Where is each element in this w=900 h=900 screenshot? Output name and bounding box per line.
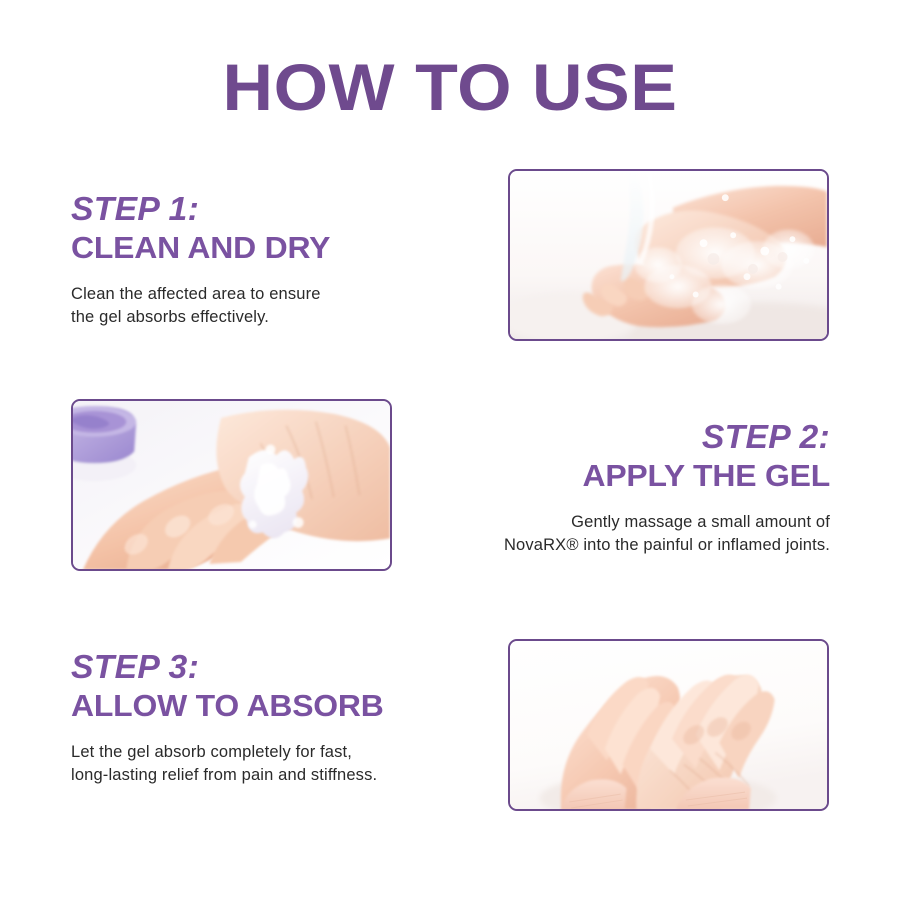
washing-hands-photo [508, 169, 829, 341]
applying-gel-illustration [73, 401, 390, 569]
applying-gel-photo-inner [73, 401, 390, 569]
step-2-heading: APPLY THE GEL [356, 457, 830, 495]
step-1-heading: CLEAN AND DRY [71, 229, 504, 267]
step-1-text-block: STEP 1: CLEAN AND DRY Clean the affected… [71, 190, 491, 329]
resting-hands-photo-inner [510, 641, 827, 809]
resting-hands-photo [508, 639, 829, 811]
step-1-body: Clean the affected area to ensure the ge… [71, 283, 491, 329]
step-2-body: Gently massage a small amount of NovaRX®… [370, 511, 830, 557]
step-3-eyebrow: STEP 3: [71, 648, 499, 686]
applying-gel-photo [71, 399, 392, 571]
washing-hands-illustration [510, 171, 827, 339]
resting-hands-illustration [510, 641, 827, 809]
page-title: HOW TO USE [0, 52, 900, 122]
step-3-text-block: STEP 3: ALLOW TO ABSORB Let the gel abso… [71, 648, 491, 787]
step-1-eyebrow: STEP 1: [71, 190, 499, 228]
step-2-text-block: STEP 2: APPLY THE GEL Gently massage a s… [370, 418, 830, 557]
step-3-body: Let the gel absorb completely for fast, … [71, 741, 491, 787]
washing-hands-photo-inner [510, 171, 827, 339]
step-3-heading: ALLOW TO ABSORB [71, 687, 504, 725]
step-2-eyebrow: STEP 2: [361, 418, 830, 456]
